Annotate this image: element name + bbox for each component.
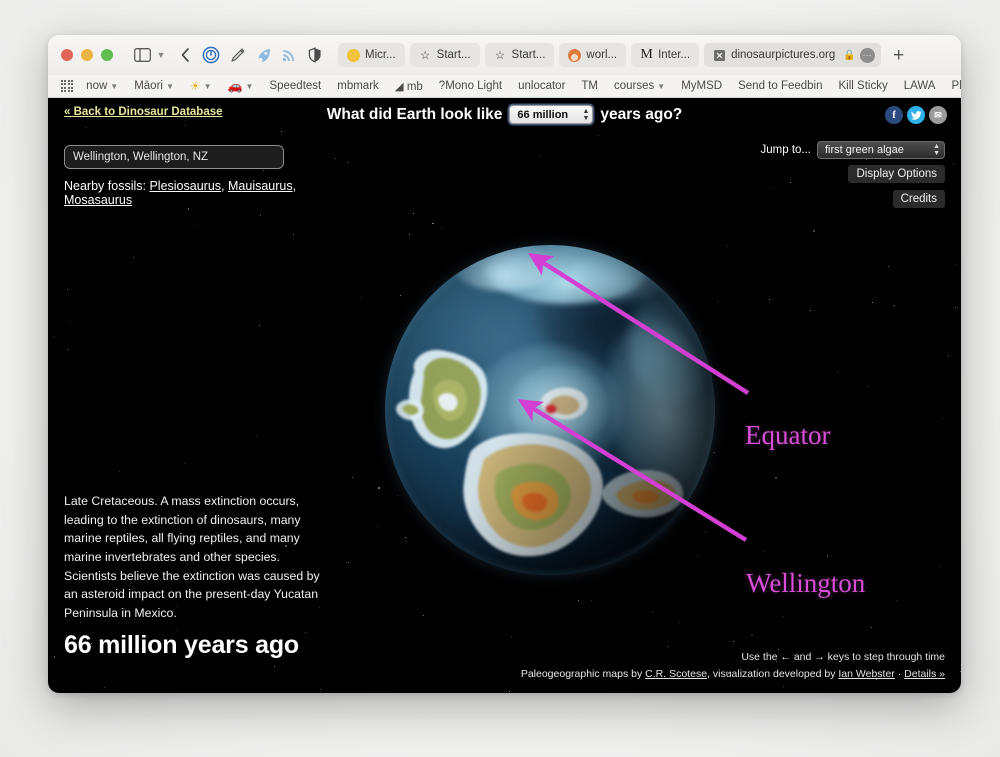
bookmark-label: mbmark [337, 80, 379, 92]
footer-keys-hint: Use the ← and → keys to step through tim… [521, 649, 945, 666]
bookmark-label: unlocator [518, 80, 565, 92]
jump-to-label: Jump to... [761, 144, 812, 156]
ian-webster-link[interactable]: Ian Webster [838, 668, 894, 680]
tab-label: Micr... [365, 49, 396, 61]
bookmark-label: Speedtest [269, 80, 321, 92]
bookmark-lawa[interactable]: LAWA [896, 80, 944, 92]
bookmark-unlocator[interactable]: unlocator [510, 80, 573, 92]
apps-grid-icon[interactable] [61, 80, 73, 92]
tab-label: worl... [586, 49, 617, 61]
footer-credits: Paleogeographic maps by C.R. Scotese, vi… [521, 666, 945, 683]
chevron-down-icon: ▼ [657, 82, 665, 91]
footer-credit-pre: Paleogeographic maps by [521, 668, 645, 680]
globe-sphere [385, 245, 715, 575]
page-content: « Back to Dinosaur Database What did Ear… [48, 98, 961, 693]
yellow-star-favicon [347, 49, 360, 62]
bookmark-label: 🚗 [228, 79, 243, 93]
stepper-icon: ▲▼ [933, 143, 940, 157]
age-select[interactable]: 66 million ▲▼ [509, 105, 593, 124]
email-icon[interactable]: ✉ [929, 106, 947, 124]
scotese-link[interactable]: C.R. Scotese [645, 668, 707, 680]
x-box-favicon [713, 49, 726, 62]
chevron-down-icon: ▼ [110, 82, 118, 91]
page-title: What did Earth look like 66 million ▲▼ y… [48, 105, 961, 124]
bookmark-photos[interactable]: Photos [943, 80, 961, 92]
nearby-fossils-label: Nearby fossils: [64, 179, 146, 193]
bookmark-sun[interactable]: ☀▼ [182, 79, 220, 93]
twitter-icon[interactable] [907, 106, 925, 124]
browser-window: ▼ Micr... ☆ Start... [48, 35, 961, 693]
minimize-window-button[interactable] [81, 49, 93, 61]
display-options-button[interactable]: Display Options [848, 165, 945, 183]
bookmark-label: Kill Sticky [839, 80, 888, 92]
browser-tab-2[interactable]: ☆ Start... [410, 43, 480, 67]
age-select-value: 66 million [517, 109, 568, 121]
reader-contrast-icon[interactable] [302, 42, 328, 68]
close-window-button[interactable] [61, 49, 73, 61]
location-value: Wellington, Wellington, NZ [73, 151, 208, 163]
bookmark-mono-light[interactable]: ?Mono Light [431, 80, 510, 92]
bookmark-label: ☀ [190, 79, 201, 93]
browser-tab-5[interactable]: M Inter... [631, 43, 699, 67]
jump-to-control: Jump to... first green algae ▲▼ [761, 141, 946, 159]
bookmark-maori[interactable]: Māori▼ [126, 80, 182, 92]
browser-toolbar: ▼ Micr... ☆ Start... [48, 35, 961, 75]
bookmark-send-to-feedbin[interactable]: Send to Feedbin [730, 80, 830, 92]
tab-label: dinosaurpictures.org [731, 49, 835, 61]
bookmark-label: MyMSD [681, 80, 722, 92]
details-link[interactable]: Details » [904, 668, 945, 680]
browser-tab-3[interactable]: ☆ Start... [485, 43, 555, 67]
jump-to-value: first green algae [825, 144, 904, 156]
browser-tab-4[interactable]: worl... [559, 43, 626, 67]
bookmark-kill-sticky[interactable]: Kill Sticky [831, 80, 896, 92]
bookmark-label: now [86, 80, 107, 92]
back-icon[interactable] [172, 42, 198, 68]
browser-tab-active-dinosaurpictures[interactable]: dinosaurpictures.org 🔒 ⋯ [704, 43, 881, 67]
tab-label: Inter... [658, 49, 690, 61]
bookmark-label: courses [614, 80, 654, 92]
rocket-icon[interactable] [250, 42, 276, 68]
new-tab-button[interactable]: + [886, 46, 912, 65]
bookmark-label: ?Mono Light [439, 80, 502, 92]
bookmark-mbmark[interactable]: mbmark [329, 80, 387, 92]
footer-credit-sep: · [895, 668, 904, 680]
onepassword-icon[interactable] [198, 42, 224, 68]
bookmark-courses[interactable]: courses▼ [606, 80, 673, 92]
ellipsis-icon[interactable]: ⋯ [860, 48, 875, 63]
facebook-icon[interactable]: f [885, 106, 903, 124]
footer-credit-mid: , visualization developed by [707, 668, 838, 680]
equator-annotation-label: Equator [745, 420, 830, 451]
page-title-suffix: years ago? [600, 106, 682, 124]
tab-label: Start... [437, 49, 471, 61]
nearby-fossils: Nearby fossils: Plesiosaurus, Mauisaurus… [64, 179, 334, 208]
star-outline-favicon: ☆ [494, 49, 507, 62]
star-outline-favicon: ☆ [419, 49, 432, 62]
m-letter-favicon: M [640, 49, 653, 62]
bookmark-label: Photos [951, 80, 961, 92]
tab-label: Start... [512, 49, 546, 61]
sidebar-icon[interactable] [129, 42, 155, 68]
bookmark-label: ◢ mb [395, 79, 423, 93]
bookmark-car[interactable]: 🚗▼ [220, 79, 262, 93]
credits-button[interactable]: Credits [893, 190, 945, 208]
bookmark-label: Send to Feedbin [738, 80, 822, 92]
location-input[interactable]: Wellington, Wellington, NZ [64, 145, 284, 169]
chevron-down-icon[interactable]: ▼ [153, 42, 169, 68]
fossil-link-plesiosaurus[interactable]: Plesiosaurus [149, 179, 221, 193]
page-title-prefix: What did Earth look like [327, 106, 503, 124]
tab-strip: Micr... ☆ Start... ☆ Start... worl... M … [338, 43, 952, 67]
bookmark-mymsd[interactable]: MyMSD [673, 80, 730, 92]
bookmark-label: LAWA [904, 80, 936, 92]
earth-globe[interactable] [385, 245, 715, 575]
bookmark-label: TM [581, 80, 598, 92]
social-links: f ✉ [885, 106, 947, 124]
globe-terminator-shading [385, 245, 715, 575]
bookmark-tm[interactable]: TM [573, 80, 606, 92]
chevron-down-icon: ▼ [204, 82, 212, 91]
browser-tab-1[interactable]: Micr... [338, 43, 405, 67]
page-footer: Use the ← and → keys to step through tim… [521, 649, 945, 683]
bookmark-speedtest[interactable]: Speedtest [261, 80, 329, 92]
big-year-heading: 66 million years ago [64, 631, 299, 660]
orange-person-favicon [568, 49, 581, 62]
bookmark-now[interactable]: now▼ [78, 80, 126, 92]
rss-icon[interactable] [276, 42, 302, 68]
pencil-icon[interactable] [224, 42, 250, 68]
bookmark-label: Māori [134, 80, 163, 92]
chevron-down-icon: ▼ [246, 82, 254, 91]
window-traffic-lights [61, 49, 113, 61]
chevron-down-icon: ▼ [166, 82, 174, 91]
wellington-annotation-label: Wellington [746, 568, 865, 599]
fossil-link-mauisaurus[interactable]: Mauisaurus [228, 179, 293, 193]
bookmark-mb[interactable]: ◢ mb [387, 79, 431, 93]
jump-to-select[interactable]: first green algae ▲▼ [817, 141, 945, 159]
lock-icon: 🔒 [843, 50, 855, 61]
page-header: « Back to Dinosaur Database What did Ear… [48, 98, 961, 131]
maximize-window-button[interactable] [101, 49, 113, 61]
fossil-link-mosasaurus[interactable]: Mosasaurus [64, 193, 132, 207]
period-description: Late Cretaceous. A mass extinction occur… [64, 492, 326, 623]
stepper-icon: ▲▼ [582, 108, 589, 122]
bookmarks-bar: now▼ Māori▼ ☀▼ 🚗▼ Speedtest mbmark ◢ mb … [48, 75, 961, 98]
